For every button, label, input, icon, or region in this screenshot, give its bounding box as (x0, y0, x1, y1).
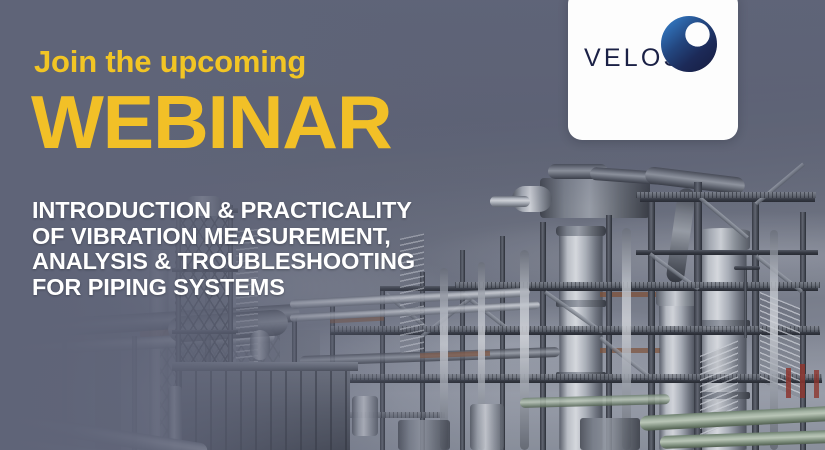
velosi-logo-card[interactable]: VELOSI (568, 0, 738, 140)
webinar-banner: Join the upcoming WEBINAR INTRODUCTION &… (0, 0, 825, 450)
velosi-logo: VELOSI (568, 36, 738, 82)
subtitle-text: INTRODUCTION & PRACTICALITY OF VIBRATION… (32, 198, 415, 300)
velosi-circle-mark (659, 14, 719, 74)
headline-text: WEBINAR (31, 85, 391, 160)
eyebrow-text: Join the upcoming (34, 46, 306, 77)
